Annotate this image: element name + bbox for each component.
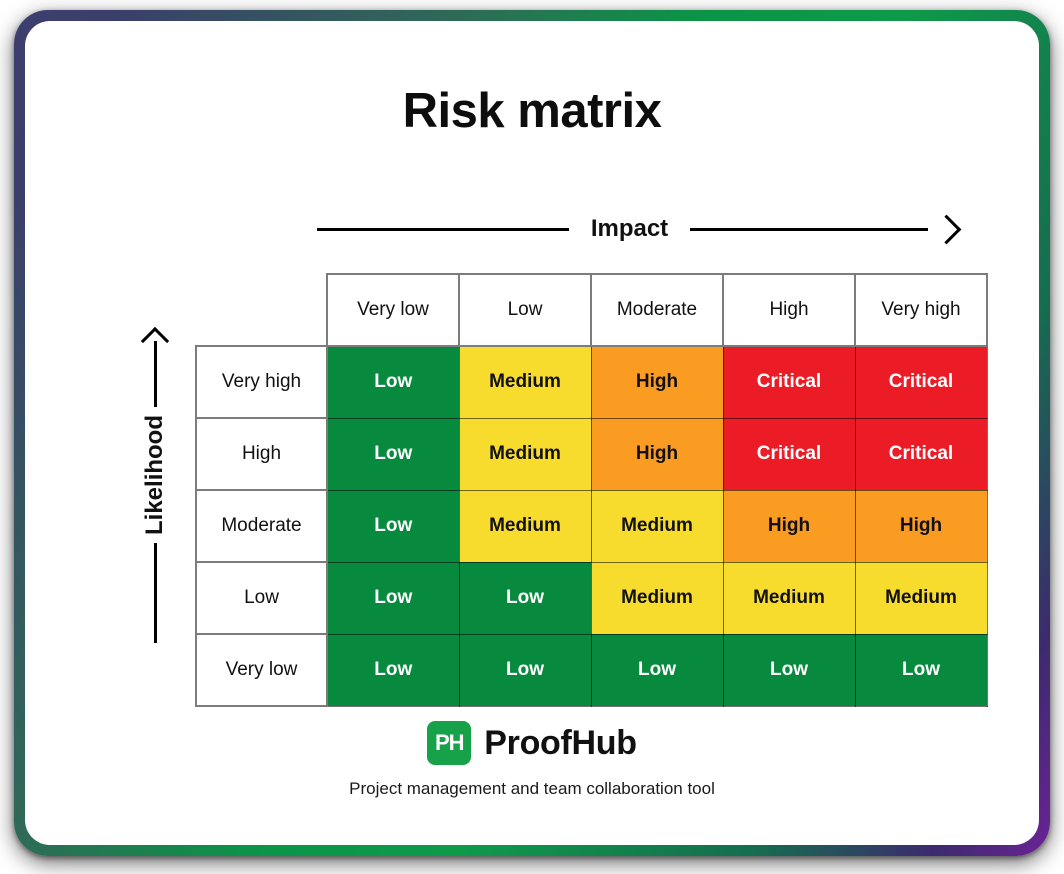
matrix-cell-high-moderate: High <box>591 418 723 490</box>
footer: PH ProofHub Project management and team … <box>25 721 1039 799</box>
matrix-cell-very-high-very-low: Low <box>327 346 459 418</box>
matrix-row-high: HighLowMediumHighCriticalCritical <box>196 418 987 490</box>
matrix-cell-high-high: Critical <box>723 418 855 490</box>
likelihood-axis-label: Likelihood <box>141 415 169 535</box>
matrix-row-moderate: ModerateLowMediumMediumHighHigh <box>196 490 987 562</box>
row-header-high: High <box>196 418 327 490</box>
row-header-moderate: Moderate <box>196 490 327 562</box>
matrix-cell-very-low-very-high: Low <box>855 634 987 706</box>
matrix-cell-moderate-low: Medium <box>459 490 591 562</box>
matrix-cell-low-low: Low <box>459 562 591 634</box>
matrix-cell-low-very-low: Low <box>327 562 459 634</box>
column-header-very-low: Very low <box>327 274 459 346</box>
matrix-cell-very-low-high: Low <box>723 634 855 706</box>
matrix-cell-low-very-high: Medium <box>855 562 987 634</box>
impact-axis-line-left <box>317 228 569 231</box>
likelihood-arrow-icon <box>141 327 169 355</box>
matrix-body: Very highLowMediumHighCriticalCriticalHi… <box>196 346 987 706</box>
brand-name: ProofHub <box>484 724 636 763</box>
matrix-cell-very-low-moderate: Low <box>591 634 723 706</box>
row-header-low: Low <box>196 562 327 634</box>
matrix-cell-low-high: Medium <box>723 562 855 634</box>
matrix-row-low: LowLowLowMediumMediumMedium <box>196 562 987 634</box>
matrix-cell-high-very-low: Low <box>327 418 459 490</box>
proofhub-logo-icon: PH <box>427 721 471 765</box>
matrix-cell-moderate-high: High <box>723 490 855 562</box>
matrix-cell-very-high-very-high: Critical <box>855 346 987 418</box>
matrix-row-very-high: Very highLowMediumHighCriticalCritical <box>196 346 987 418</box>
card-frame: Risk matrix Impact Likelihood Very low L… <box>14 10 1050 856</box>
matrix-cell-very-high-moderate: High <box>591 346 723 418</box>
impact-arrow-icon <box>932 214 962 244</box>
matrix-cell-very-low-low: Low <box>459 634 591 706</box>
matrix-cell-moderate-moderate: Medium <box>591 490 723 562</box>
impact-axis-line-right <box>690 228 928 231</box>
matrix-cell-very-high-low: Medium <box>459 346 591 418</box>
matrix-corner-cell <box>196 274 327 346</box>
matrix-cell-high-very-high: Critical <box>855 418 987 490</box>
column-header-moderate: Moderate <box>591 274 723 346</box>
likelihood-axis: Likelihood <box>123 331 187 687</box>
page-title: Risk matrix <box>25 83 1039 139</box>
column-header-high: High <box>723 274 855 346</box>
matrix-cell-very-low-very-low: Low <box>327 634 459 706</box>
matrix-cell-low-moderate: Medium <box>591 562 723 634</box>
matrix-header-row: Very low Low Moderate High Very high <box>196 274 987 346</box>
matrix-cell-very-high-high: Critical <box>723 346 855 418</box>
matrix-cell-moderate-very-high: High <box>855 490 987 562</box>
matrix-row-very-low: Very lowLowLowLowLowLow <box>196 634 987 706</box>
card-surface: Risk matrix Impact Likelihood Very low L… <box>25 21 1039 845</box>
row-header-very-low: Very low <box>196 634 327 706</box>
row-header-very-high: Very high <box>196 346 327 418</box>
matrix-cell-high-low: Medium <box>459 418 591 490</box>
risk-matrix-table: Very low Low Moderate High Very high Ver… <box>195 273 988 707</box>
impact-axis: Impact <box>311 209 963 249</box>
brand-tagline: Project management and team collaboratio… <box>25 779 1039 799</box>
brand-row: PH ProofHub <box>25 721 1039 765</box>
column-header-very-high: Very high <box>855 274 987 346</box>
column-header-low: Low <box>459 274 591 346</box>
matrix-cell-moderate-very-low: Low <box>327 490 459 562</box>
likelihood-axis-line-bottom <box>154 543 157 643</box>
impact-axis-label: Impact <box>591 215 668 243</box>
